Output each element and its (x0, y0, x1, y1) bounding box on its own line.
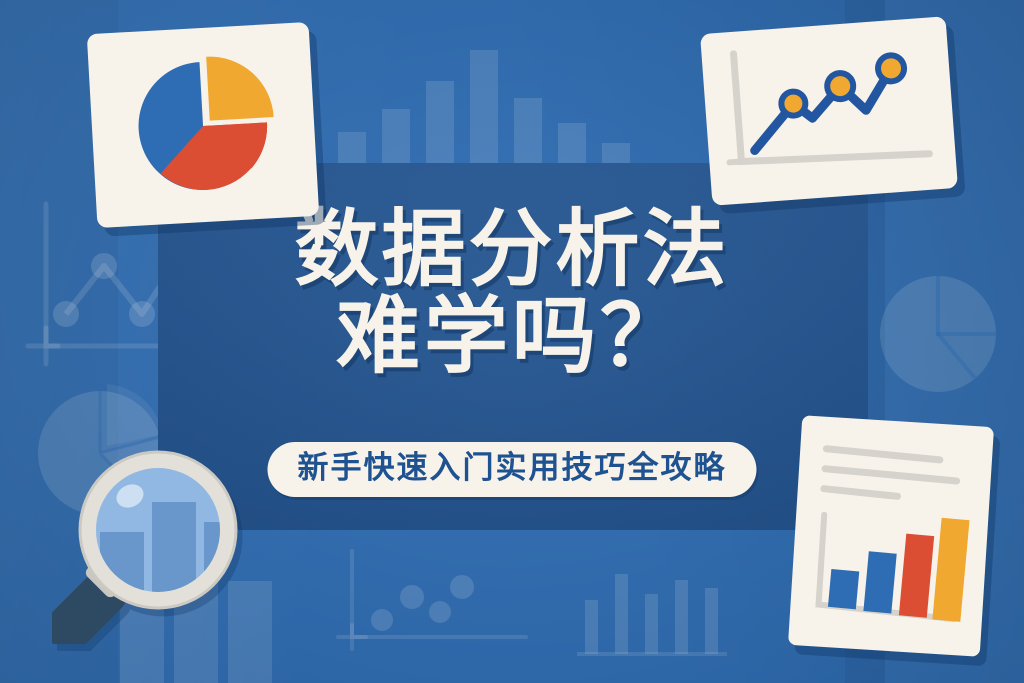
line-chart-card (700, 16, 958, 206)
line-chart-markers (778, 54, 907, 116)
pie-chart-graphic (97, 32, 308, 217)
background-bar-chart-bottom (575, 552, 755, 672)
magnifying-glass (52, 444, 252, 649)
report-card-graphic (801, 428, 982, 644)
subtitle-badge: 新手快速入门实用技巧全攻略 (268, 442, 757, 497)
report-bar-chart (828, 511, 970, 622)
background-bar-chart-top (330, 28, 660, 168)
pie-chart-card (87, 22, 319, 228)
page-title: 数据分析法 难学吗？ (0, 206, 1024, 381)
document-text-lines (824, 449, 958, 500)
report-document-card (788, 415, 994, 657)
poster-canvas: 数据分析法 难学吗？ 新手快速入门实用技巧全攻略 (0, 0, 1024, 683)
headline-line-2: 难学吗？ (0, 293, 1024, 380)
line-chart-graphic (711, 27, 948, 195)
background-scatter-plot (330, 545, 540, 665)
